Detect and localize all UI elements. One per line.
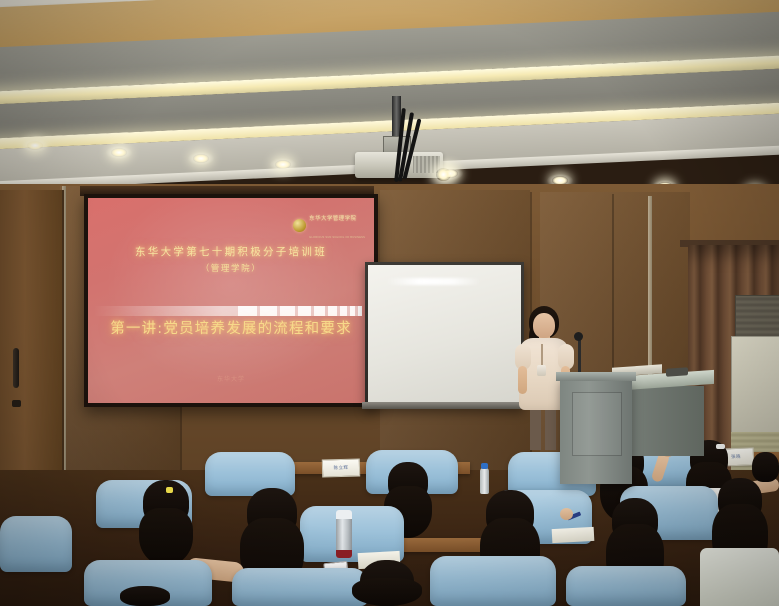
hair-clip-icon: [166, 487, 173, 493]
speaker-arm: [518, 366, 527, 394]
audience-chair-front: [566, 566, 686, 606]
projection-screen: 东华大学管理学院 GLORIOUS SUN SCHOOL OF BUSINESS…: [84, 194, 378, 407]
audience-chair: [0, 516, 72, 572]
logo-text: 东华大学管理学院: [309, 216, 356, 222]
logo-text-group: 东华大学管理学院 GLORIOUS SUN SCHOOL OF BUSINESS: [309, 207, 365, 243]
door-lock-icon: [12, 400, 21, 407]
downlight-icon: [27, 141, 43, 150]
microphone-stem: [578, 338, 581, 374]
downlight-icon: [111, 148, 127, 157]
speaker-head: [533, 313, 555, 338]
name-card-text: 陈立辉: [334, 465, 349, 471]
slide-decorative-blocks: [238, 306, 374, 316]
notebook: [552, 527, 595, 543]
speaker-leg: [530, 408, 541, 450]
slide-footer: 东华大学: [88, 374, 374, 383]
downlight-icon: [275, 160, 291, 169]
speaker-badge: [537, 365, 546, 376]
thermos-cap-icon: [336, 510, 352, 519]
slide-subtitle-line-1: 东华大学第七十期积极分子培训班: [88, 244, 374, 259]
name-card: 陈立辉: [322, 459, 360, 478]
water-bottle: [480, 468, 489, 494]
audience-top: [700, 548, 779, 606]
whiteboard-pen-tray: [362, 402, 522, 409]
lecture-hall-photo: 东华大学管理学院 GLORIOUS SUN SCHOOL OF BUSINESS…: [0, 0, 779, 606]
school-logo: 东华大学管理学院 GLORIOUS SUN SCHOOL OF BUSINESS: [293, 207, 365, 243]
slide-subtitle-line-2: （管理学院）: [88, 262, 374, 274]
whiteboard: [365, 262, 524, 409]
audience-head-front: [120, 586, 170, 606]
slide-surface: 东华大学管理学院 GLORIOUS SUN SCHOOL OF BUSINESS…: [88, 198, 374, 403]
thermos-base: [336, 550, 352, 558]
name-card-text: 张晓: [731, 454, 741, 460]
audience-head: [752, 452, 779, 482]
projector-lens: [436, 168, 451, 181]
audience-hair: [352, 578, 422, 606]
podium-panel: [572, 392, 622, 456]
speaker-lanyard: [541, 344, 543, 366]
audience-chair-front: [430, 556, 556, 606]
logo-emblem-icon: [293, 219, 306, 232]
whiteboard-glare: [386, 278, 481, 285]
speaker-leg: [545, 408, 556, 450]
microphone-icon: [574, 332, 583, 341]
whiteboard-surface: [368, 265, 521, 406]
audience-chair-front: [232, 568, 368, 606]
hand: [560, 508, 573, 520]
hair-clip-icon: [716, 444, 725, 449]
air-conditioner-grille-icon: [735, 295, 779, 339]
downlight-icon: [193, 154, 209, 163]
audience-hair: [139, 508, 193, 566]
bottle-cap-icon: [481, 463, 488, 469]
desk-object: [666, 367, 688, 377]
logo-subtext: GLORIOUS SUN SCHOOL OF BUSINESS: [309, 236, 365, 239]
slide-main-title: 第一讲:党员培养发展的流程和要求: [90, 320, 372, 339]
side-door[interactable]: [0, 190, 64, 490]
podium-top-surface: [556, 372, 636, 381]
air-conditioner-body: [731, 336, 779, 434]
door-handle-icon[interactable]: [13, 348, 19, 388]
